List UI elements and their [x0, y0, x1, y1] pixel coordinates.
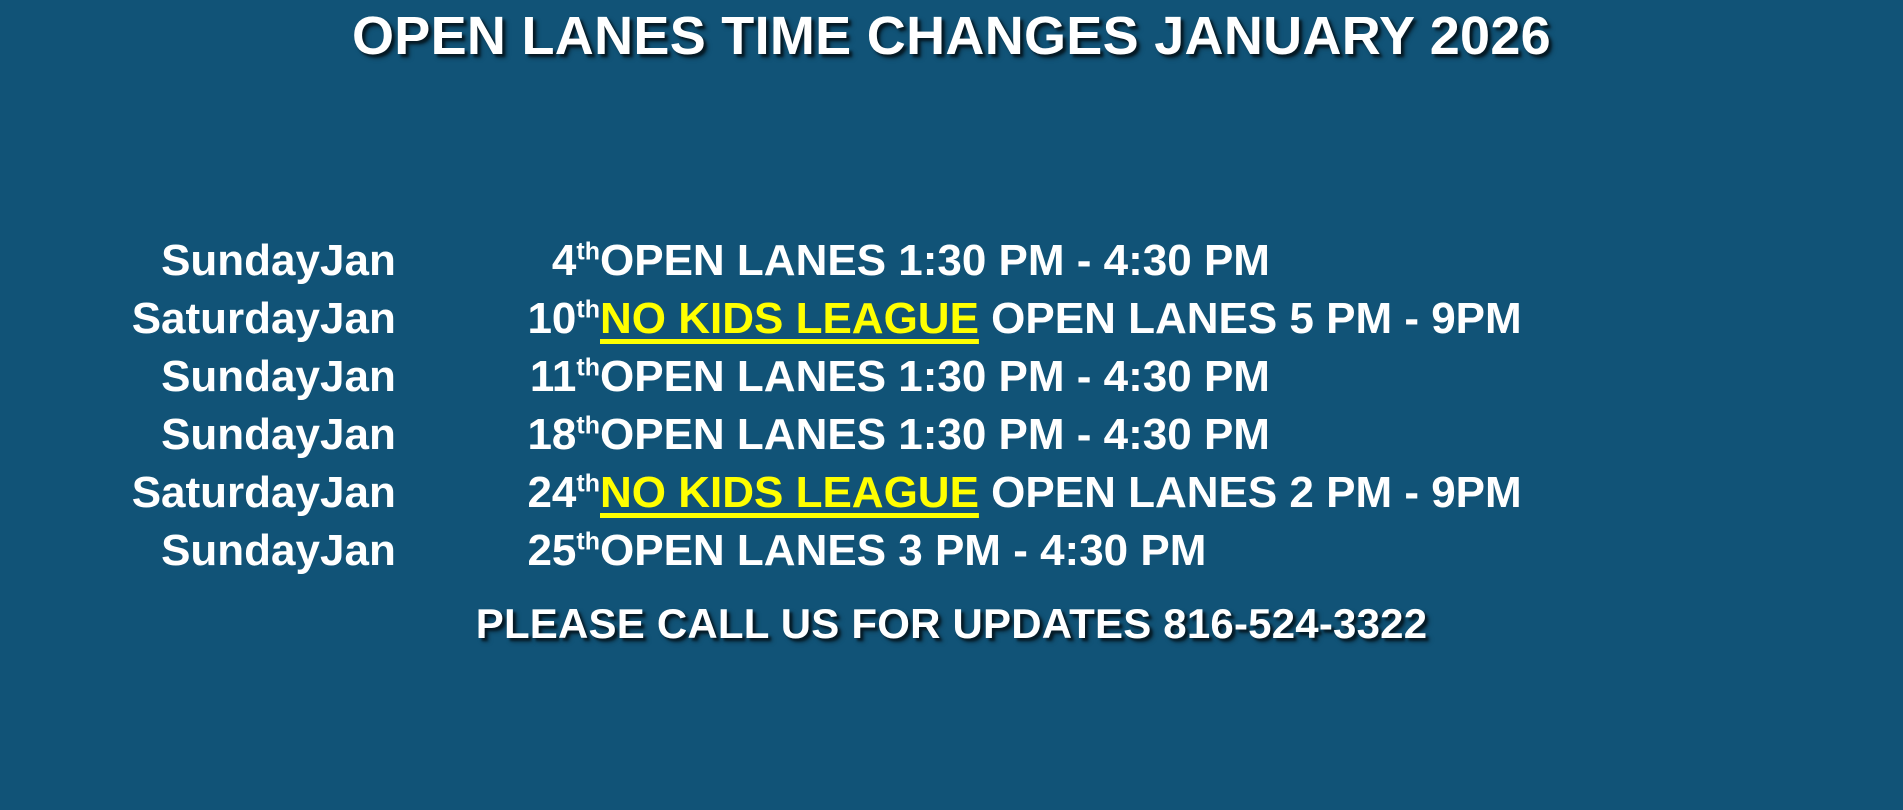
row-date: 4th — [470, 232, 600, 290]
row-month: Jan — [320, 232, 470, 290]
title-container: OPEN LANES TIME CHANGES JANUARY 2026 — [0, 8, 1903, 65]
open-lanes-notice-board: OPEN LANES TIME CHANGES JANUARY 2026 Sun… — [0, 0, 1903, 810]
row-date: 25th — [470, 522, 600, 580]
row-date-number: 11 — [530, 352, 577, 401]
row-month: Jan — [320, 406, 470, 464]
row-day: Sunday — [0, 232, 320, 290]
row-date-ordinal: th — [576, 237, 600, 265]
table-row: SaturdayJan10thNO KIDS LEAGUE OPEN LANES… — [0, 290, 1522, 348]
row-date-ordinal: th — [576, 527, 600, 555]
row-event: NO KIDS LEAGUE OPEN LANES 5 PM - 9PM — [600, 290, 1522, 348]
row-date-number: 4 — [552, 236, 576, 285]
row-month: Jan — [320, 290, 470, 348]
row-date: 10th — [470, 290, 600, 348]
row-day: Saturday — [0, 290, 320, 348]
row-event-text: OPEN LANES 1:30 PM - 4:30 PM — [600, 410, 1270, 459]
row-day: Sunday — [0, 406, 320, 464]
row-month: Jan — [320, 348, 470, 406]
row-event: OPEN LANES 1:30 PM - 4:30 PM — [600, 232, 1522, 290]
row-date-number: 24 — [527, 468, 576, 517]
row-date-ordinal: th — [576, 411, 600, 439]
no-kids-league-badge: NO KIDS LEAGUE — [600, 468, 979, 517]
row-date-ordinal: th — [576, 295, 600, 323]
table-row: SundayJan25thOPEN LANES 3 PM - 4:30 PM — [0, 522, 1522, 580]
row-day: Saturday — [0, 464, 320, 522]
footer-container: PLEASE CALL US FOR UPDATES 816-524-3322 — [0, 600, 1903, 648]
page-title: OPEN LANES TIME CHANGES JANUARY 2026 — [352, 8, 1551, 65]
row-event: OPEN LANES 1:30 PM - 4:30 PM — [600, 406, 1522, 464]
schedule-section: SundayJan4thOPEN LANES 1:30 PM - 4:30 PM… — [0, 232, 1903, 580]
row-date-number: 18 — [527, 410, 576, 459]
row-event: OPEN LANES 3 PM - 4:30 PM — [600, 522, 1522, 580]
row-date: 24th — [470, 464, 600, 522]
table-row: SundayJan11thOPEN LANES 1:30 PM - 4:30 P… — [0, 348, 1522, 406]
table-row: SundayJan18thOPEN LANES 1:30 PM - 4:30 P… — [0, 406, 1522, 464]
row-event: NO KIDS LEAGUE OPEN LANES 2 PM - 9PM — [600, 464, 1522, 522]
row-date: 18th — [470, 406, 600, 464]
row-event-text: OPEN LANES 2 PM - 9PM — [979, 468, 1522, 517]
row-event: OPEN LANES 1:30 PM - 4:30 PM — [600, 348, 1522, 406]
row-day: Sunday — [0, 522, 320, 580]
table-row: SundayJan4thOPEN LANES 1:30 PM - 4:30 PM — [0, 232, 1522, 290]
row-event-text: OPEN LANES 3 PM - 4:30 PM — [600, 526, 1206, 575]
row-event-text: OPEN LANES 5 PM - 9PM — [979, 294, 1522, 343]
row-date-number: 10 — [527, 294, 576, 343]
row-date-number: 25 — [527, 526, 576, 575]
row-date: 11th — [470, 348, 600, 406]
row-date-ordinal: th — [576, 469, 600, 497]
no-kids-league-badge: NO KIDS LEAGUE — [600, 294, 979, 343]
row-day: Sunday — [0, 348, 320, 406]
row-date-ordinal: th — [576, 353, 600, 381]
row-month: Jan — [320, 464, 470, 522]
row-event-text: OPEN LANES 1:30 PM - 4:30 PM — [600, 352, 1270, 401]
contact-footer: PLEASE CALL US FOR UPDATES 816-524-3322 — [476, 600, 1428, 648]
row-event-text: OPEN LANES 1:30 PM - 4:30 PM — [600, 236, 1270, 285]
schedule-table: SundayJan4thOPEN LANES 1:30 PM - 4:30 PM… — [0, 232, 1522, 580]
table-row: SaturdayJan24thNO KIDS LEAGUE OPEN LANES… — [0, 464, 1522, 522]
schedule-table-body: SundayJan4thOPEN LANES 1:30 PM - 4:30 PM… — [0, 232, 1522, 580]
row-month: Jan — [320, 522, 470, 580]
